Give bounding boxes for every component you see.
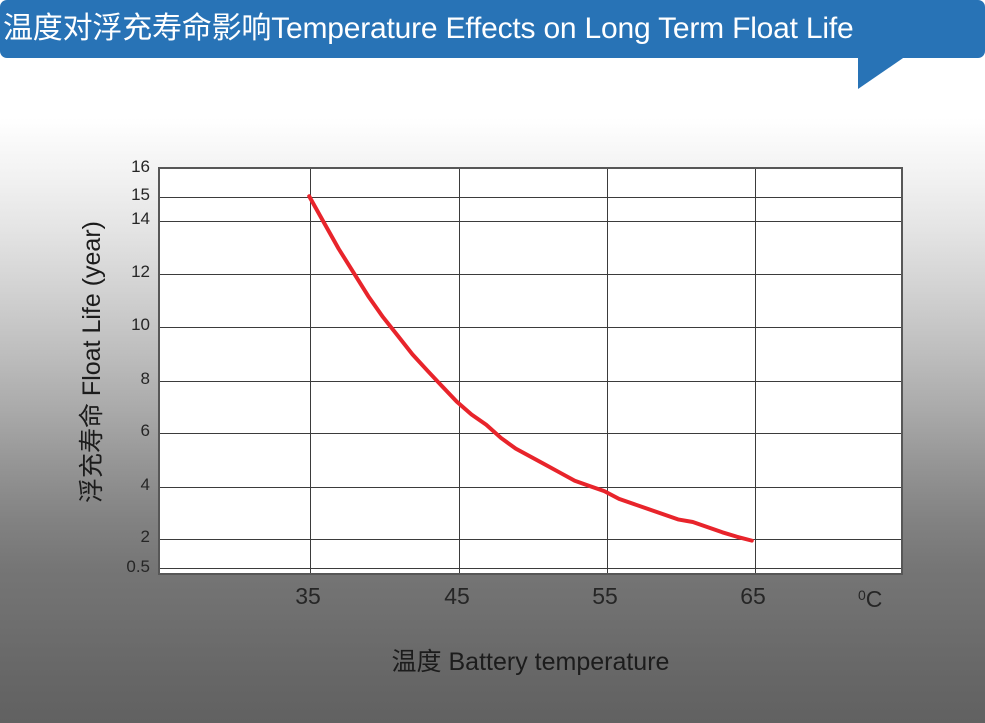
y-tick-15: 15: [131, 186, 150, 203]
chart-container: 16 15 14 12 10 8 6 4 2 0.5 35 45 55 65 0…: [0, 58, 985, 723]
celsius-letter: C: [866, 586, 883, 612]
y-tick-10: 10: [131, 316, 150, 333]
degree-superscript: 0: [858, 587, 866, 603]
page-title: 温度对浮充寿命影响Temperature Effects on Long Ter…: [0, 14, 853, 44]
title-banner: 温度对浮充寿命影响Temperature Effects on Long Ter…: [0, 0, 985, 58]
plot-area: [158, 167, 903, 575]
x-tick-35: 35: [295, 583, 321, 609]
y-tick-4: 4: [141, 476, 150, 493]
x-axis-ticks: 35 45 55 65: [158, 583, 903, 617]
x-tick-45: 45: [444, 583, 470, 609]
y-tick-2: 2: [141, 528, 150, 545]
chart-page: 温度对浮充寿命影响Temperature Effects on Long Ter…: [0, 0, 985, 723]
y-axis-title: 浮充寿命 Float Life (year): [78, 152, 106, 572]
y-tick-16: 16: [131, 158, 150, 175]
y-tick-8: 8: [141, 370, 150, 387]
x-axis-title: 温度 Battery temperature: [158, 648, 903, 676]
float-life-curve: [160, 169, 901, 573]
x-axis-unit-label: 0C: [858, 582, 882, 612]
y-tick-14: 14: [131, 210, 150, 227]
y-tick-0.5: 0.5: [126, 558, 150, 575]
y-tick-12: 12: [131, 263, 150, 280]
y-axis-ticks: 16 15 14 12 10 8 6 4 2 0.5: [100, 167, 150, 575]
x-tick-65: 65: [740, 583, 766, 609]
y-tick-6: 6: [141, 422, 150, 439]
x-tick-55: 55: [592, 583, 618, 609]
